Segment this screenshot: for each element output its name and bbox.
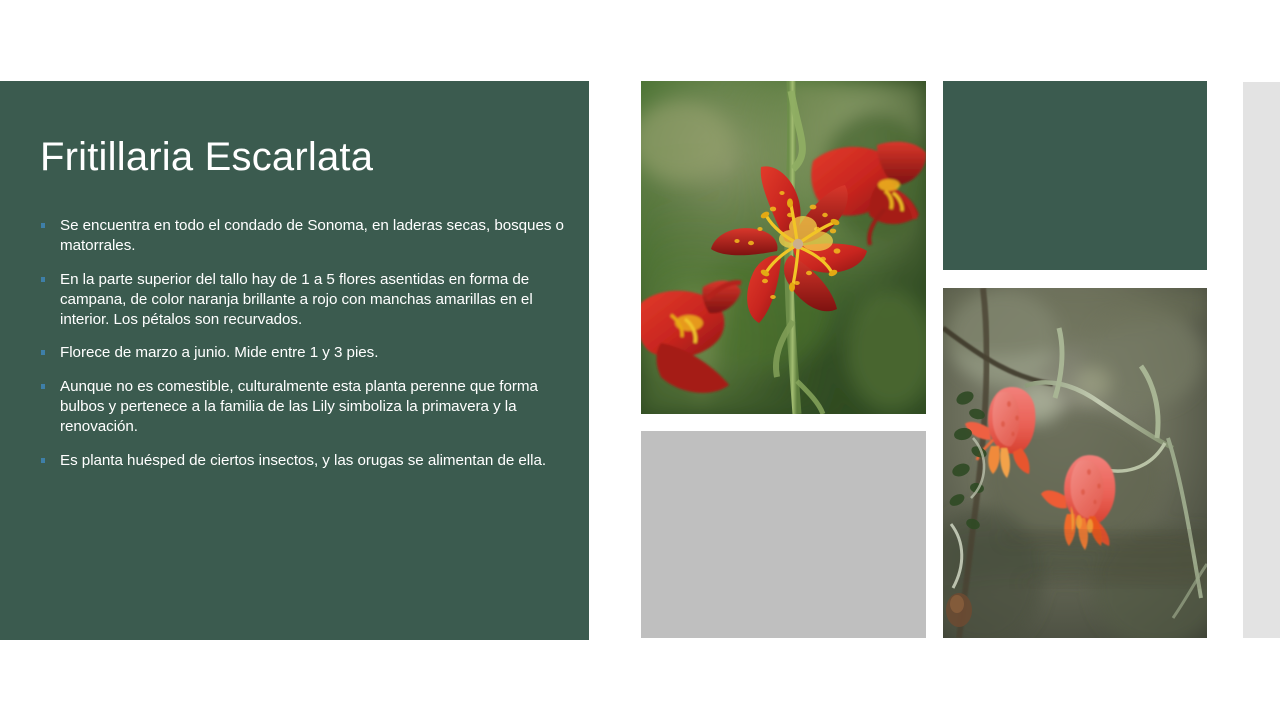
- slide-canvas: Fritillaria Escarlata Se encuentra en to…: [0, 0, 1280, 720]
- list-item: En la parte superior del tallo hay de 1 …: [38, 270, 566, 331]
- list-item: Es planta huésped de ciertos insectos, y…: [38, 451, 566, 471]
- grey-placeholder-right: [1243, 82, 1280, 638]
- bullet-list: Se encuentra en todo el condado de Sonom…: [38, 216, 566, 471]
- content-panel: Fritillaria Escarlata Se encuentra en to…: [0, 81, 589, 640]
- list-item-text: Florece de marzo a junio. Mide entre 1 y…: [60, 343, 566, 363]
- list-item-text: En la parte superior del tallo hay de 1 …: [60, 270, 566, 331]
- scarlet-fritillary-bells-photo: [943, 288, 1207, 638]
- list-item: Aunque no es comestible, culturalmente e…: [38, 377, 566, 438]
- bullet-dot-icon: [41, 458, 45, 463]
- green-placeholder-top: [943, 81, 1207, 270]
- list-item-text: Se encuentra en todo el condado de Sonom…: [60, 216, 566, 257]
- list-item-text: Es planta huésped de ciertos insectos, y…: [60, 451, 566, 471]
- bullet-dot-icon: [41, 223, 45, 228]
- bullet-dot-icon: [41, 350, 45, 355]
- scarlet-fritillary-closeup-photo: [641, 81, 926, 414]
- list-item: Se encuentra en todo el condado de Sonom…: [38, 216, 566, 257]
- grey-placeholder-middle: [641, 431, 926, 638]
- list-item-text: Aunque no es comestible, culturalmente e…: [60, 377, 566, 438]
- bullet-dot-icon: [41, 384, 45, 389]
- page-title: Fritillaria Escarlata: [40, 134, 560, 180]
- list-item: Florece de marzo a junio. Mide entre 1 y…: [38, 343, 566, 363]
- bullet-dot-icon: [41, 277, 45, 282]
